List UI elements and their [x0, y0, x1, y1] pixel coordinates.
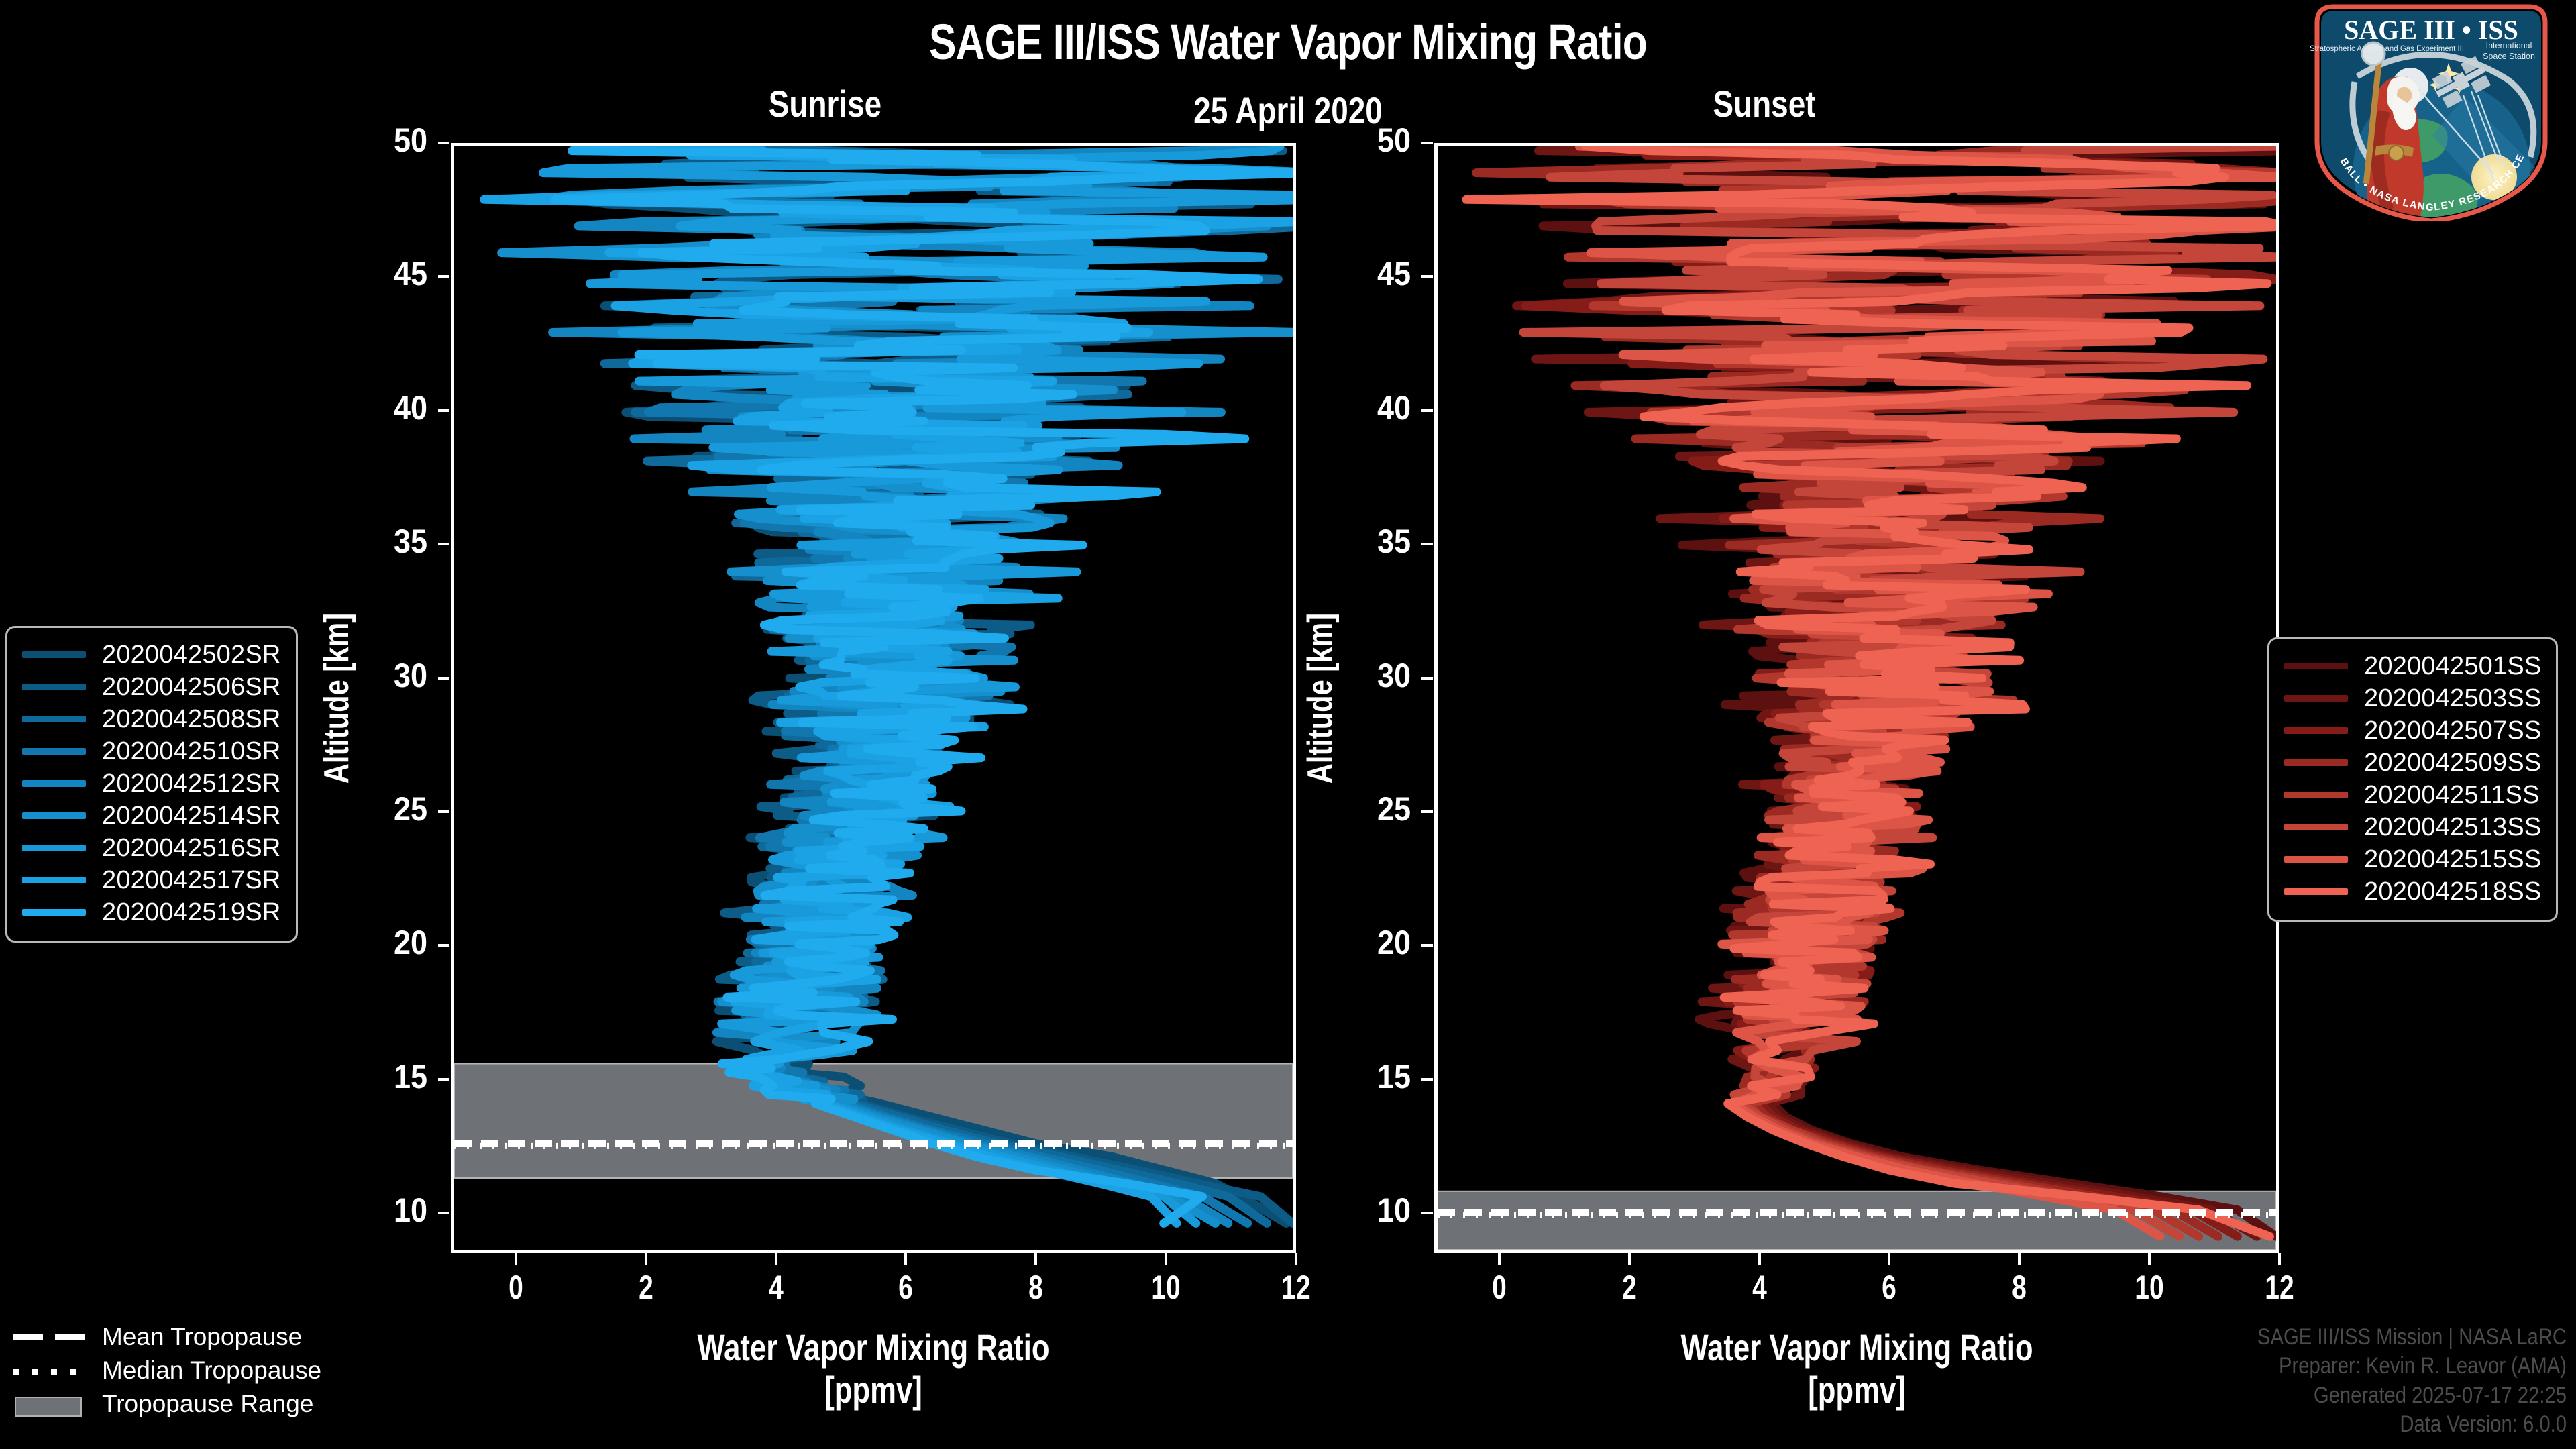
- x-axis-tick-label: 0: [1468, 1268, 1531, 1307]
- x-axis-tick-mark: [1034, 1253, 1037, 1265]
- legend-sunrise-item[interactable]: 2020042510SR: [22, 735, 281, 767]
- x-axis-tick-label: 6: [875, 1268, 938, 1307]
- svg-text:Space Station: Space Station: [2483, 52, 2535, 61]
- y-axis-tick-mark: [438, 409, 449, 412]
- legend-color-swatch: [2284, 856, 2348, 863]
- x-axis-tick-mark: [904, 1253, 907, 1265]
- legend-tropopause: Mean Tropopause Median Tropopause Tropop…: [13, 1320, 321, 1421]
- legend-color-swatch: [22, 877, 86, 883]
- x-axis-tick-mark: [1628, 1253, 1631, 1265]
- x-axis-tick-label: 6: [1858, 1268, 1921, 1307]
- dashed-line-icon: [13, 1330, 87, 1344]
- page-title: SAGE III/ISS Water Vapor Mixing Ratio: [232, 13, 2345, 70]
- x-axis-tick-mark: [2018, 1253, 2021, 1265]
- y-axis-tick-mark: [1421, 1078, 1433, 1081]
- legend-item-median-tropopause: Median Tropopause: [13, 1354, 321, 1387]
- legend-sunrise-item[interactable]: 2020042508SR: [22, 703, 281, 735]
- x-axis-tick-mark: [775, 1253, 777, 1265]
- y-axis-tick-mark: [438, 810, 449, 813]
- x-axis-tick-label: 8: [1004, 1268, 1067, 1307]
- y-axis-tick-label: 15: [1320, 1057, 1411, 1096]
- x-axis-tick-label: 10: [2118, 1268, 2181, 1307]
- y-axis-tick-label: 15: [337, 1057, 427, 1096]
- legend-label: 2020042518SS: [2364, 877, 2541, 906]
- legend-color-swatch: [2284, 792, 2348, 798]
- y-axis-title: Altitude [km]: [317, 532, 357, 865]
- y-axis-tick-mark: [438, 275, 449, 278]
- x-axis-tick-mark: [1498, 1253, 1501, 1265]
- credit-line-0: SAGE III/ISS Mission | NASA LaRC: [2257, 1323, 2567, 1352]
- legend-sunset-item[interactable]: 2020042503SS: [2284, 682, 2541, 714]
- legend-sunrise-item[interactable]: 2020042514SR: [22, 800, 281, 832]
- credit-line-3: Data Version: 6.0.0: [2257, 1410, 2567, 1440]
- x-axis-title-line1: Water Vapor Mixing Ratio: [544, 1327, 1203, 1369]
- y-axis-tick-label: 20: [337, 923, 427, 962]
- legend-color-swatch: [2284, 663, 2348, 669]
- credit-line-2: Generated 2025-07-17 22:25: [2257, 1381, 2567, 1411]
- x-axis-tick-label: 12: [1265, 1268, 1328, 1307]
- y-axis-tick-label: 10: [1320, 1191, 1411, 1230]
- legend-color-swatch: [2284, 759, 2348, 766]
- y-axis-tick-mark: [1421, 142, 1433, 144]
- x-axis-tick-label: 8: [1988, 1268, 2051, 1307]
- legend-color-swatch: [22, 909, 86, 916]
- y-axis-tick-label: 50: [1320, 121, 1411, 160]
- x-axis-tick-mark: [1758, 1253, 1761, 1265]
- x-axis-tick-mark: [515, 1253, 517, 1265]
- x-axis-tick-label: 0: [484, 1268, 547, 1307]
- legend-label: 2020042507SS: [2364, 716, 2541, 745]
- legend-label: 2020042502SR: [102, 641, 281, 669]
- x-axis-title-line2: [ppmv]: [1527, 1369, 2187, 1411]
- legend-label: 2020042517SR: [102, 866, 281, 895]
- subtitle-sunrise: Sunrise: [715, 82, 935, 125]
- legend-sunrise[interactable]: 2020042502SR2020042506SR2020042508SR2020…: [5, 626, 298, 943]
- x-axis-tick-label: 10: [1134, 1268, 1197, 1307]
- subtitle-date: 25 April 2020: [1085, 89, 1492, 132]
- y-axis-tick-mark: [1421, 944, 1433, 947]
- y-axis-tick-label: 20: [1320, 923, 1411, 962]
- legend-sunrise-item[interactable]: 2020042506SR: [22, 671, 281, 703]
- legend-sunrise-item[interactable]: 2020042519SR: [22, 896, 281, 928]
- y-axis-tick-mark: [438, 1212, 449, 1214]
- y-axis-title: Altitude [km]: [1300, 532, 1340, 865]
- x-axis-tick-label: 12: [2248, 1268, 2311, 1307]
- x-axis-title: Water Vapor Mixing Ratio[ppmv]: [544, 1327, 1203, 1411]
- x-axis-title-line1: Water Vapor Mixing Ratio: [1527, 1327, 2187, 1369]
- legend-label: 2020042501SS: [2364, 652, 2541, 681]
- y-axis-tick-label: 45: [1320, 254, 1411, 293]
- plot-panel-sunset: [1434, 143, 2279, 1253]
- legend-sunset-item[interactable]: 2020042511SS: [2284, 779, 2541, 811]
- profile-lines-sunset: [1438, 146, 2276, 1250]
- legend-color-swatch: [22, 780, 86, 787]
- legend-item-tropopause-range: Tropopause Range: [13, 1387, 321, 1421]
- dotted-line-icon: [13, 1363, 87, 1378]
- legend-sunset-item[interactable]: 2020042518SS: [2284, 875, 2541, 908]
- legend-color-swatch: [22, 845, 86, 851]
- y-axis-tick-mark: [438, 142, 449, 144]
- legend-label: 2020042503SS: [2364, 684, 2541, 713]
- legend-sunset-item[interactable]: 2020042513SS: [2284, 811, 2541, 843]
- filled-band-icon: [13, 1397, 87, 1411]
- x-axis-tick-mark: [1888, 1253, 1890, 1265]
- legend-label: 2020042512SR: [102, 769, 281, 798]
- legend-label: 2020042514SR: [102, 802, 281, 830]
- x-axis-tick-mark: [1295, 1253, 1297, 1265]
- plot-panel-sunrise: [451, 143, 1296, 1253]
- legend-color-swatch: [2284, 727, 2348, 734]
- legend-color-swatch: [22, 684, 86, 690]
- y-axis-tick-mark: [1421, 1212, 1433, 1214]
- y-axis-tick-mark: [1421, 543, 1433, 545]
- legend-sunset[interactable]: 2020042501SS2020042503SS2020042507SS2020…: [2267, 637, 2558, 922]
- x-axis-tick-label: 2: [614, 1268, 678, 1307]
- profile-lines-sunrise: [454, 146, 1293, 1250]
- plot-area-sunrise: [451, 143, 1296, 1253]
- svg-text:International: International: [2486, 41, 2532, 50]
- legend-color-swatch: [22, 748, 86, 755]
- y-axis-tick-label: 10: [337, 1191, 427, 1230]
- legend-sunrise-item[interactable]: 2020042517SR: [22, 864, 281, 896]
- y-axis-tick-mark: [1421, 677, 1433, 680]
- x-axis-tick-mark: [645, 1253, 647, 1265]
- svg-text:Stratospheric Aerosol and Gas: Stratospheric Aerosol and Gas Experiment…: [2310, 45, 2464, 53]
- y-axis-tick-mark: [1421, 810, 1433, 813]
- plot-area-sunset: [1434, 143, 2279, 1253]
- y-axis-tick-label: 45: [337, 254, 427, 293]
- subtitle-sunset: Sunset: [1654, 82, 1874, 125]
- legend-label: 2020042516SR: [102, 834, 281, 863]
- x-axis-tick-mark: [2148, 1253, 2151, 1265]
- legend-sunset-item[interactable]: 2020042501SS: [2284, 650, 2541, 682]
- legend-label: 2020042519SR: [102, 898, 281, 927]
- y-axis-tick-label: 40: [337, 388, 427, 427]
- y-axis-tick-mark: [438, 1078, 449, 1081]
- x-axis-tick-label: 2: [1598, 1268, 1661, 1307]
- legend-label-mean: Mean Tropopause: [102, 1323, 302, 1351]
- legend-label: 2020042511SS: [2364, 781, 2540, 810]
- legend-color-swatch: [2284, 695, 2348, 702]
- y-axis-tick-mark: [438, 944, 449, 947]
- legend-label: 2020042510SR: [102, 737, 281, 766]
- sage3-iss-mission-patch-logo: BALL • NASA LANGLEY RESEARCH CENTER • TA…: [2293, 1, 2569, 221]
- y-axis-tick-label: 50: [337, 121, 427, 160]
- x-axis-tick-mark: [2278, 1253, 2281, 1265]
- legend-label: 2020042508SR: [102, 705, 281, 734]
- x-axis-title-line2: [ppmv]: [544, 1369, 1203, 1411]
- y-axis-tick-label: 40: [1320, 388, 1411, 427]
- legend-label: 2020042513SS: [2364, 813, 2541, 842]
- legend-item-mean-tropopause: Mean Tropopause: [13, 1320, 321, 1354]
- legend-sunset-item[interactable]: 2020042515SS: [2284, 843, 2541, 875]
- legend-label: 2020042509SS: [2364, 749, 2541, 777]
- legend-color-swatch: [22, 812, 86, 819]
- x-axis-tick-mark: [1165, 1253, 1167, 1265]
- y-axis-tick-mark: [438, 677, 449, 680]
- legend-sunrise-item[interactable]: 2020042516SR: [22, 832, 281, 864]
- y-axis-tick-mark: [1421, 409, 1433, 412]
- legend-sunset-item[interactable]: 2020042509SS: [2284, 747, 2541, 779]
- x-axis-tick-label: 4: [745, 1268, 808, 1307]
- credit-line-1: Preparer: Kevin R. Leavor (AMA): [2257, 1352, 2567, 1381]
- legend-sunset-item[interactable]: 2020042507SS: [2284, 714, 2541, 747]
- legend-label: 2020042506SR: [102, 673, 281, 702]
- x-axis-title: Water Vapor Mixing Ratio[ppmv]: [1527, 1327, 2187, 1411]
- y-axis-tick-mark: [1421, 275, 1433, 278]
- legend-label-median: Median Tropopause: [102, 1356, 321, 1385]
- y-axis-tick-mark: [438, 543, 449, 545]
- legend-color-swatch: [2284, 824, 2348, 830]
- legend-color-swatch: [22, 651, 86, 658]
- credits-block: SAGE III/ISS Mission | NASA LaRC Prepare…: [2257, 1323, 2567, 1440]
- legend-label-range: Tropopause Range: [102, 1390, 313, 1418]
- legend-sunrise-item[interactable]: 2020042512SR: [22, 767, 281, 800]
- legend-sunrise-item[interactable]: 2020042502SR: [22, 639, 281, 671]
- legend-color-swatch: [2284, 888, 2348, 895]
- legend-color-swatch: [22, 716, 86, 722]
- legend-label: 2020042515SS: [2364, 845, 2541, 874]
- x-axis-tick-label: 4: [1728, 1268, 1791, 1307]
